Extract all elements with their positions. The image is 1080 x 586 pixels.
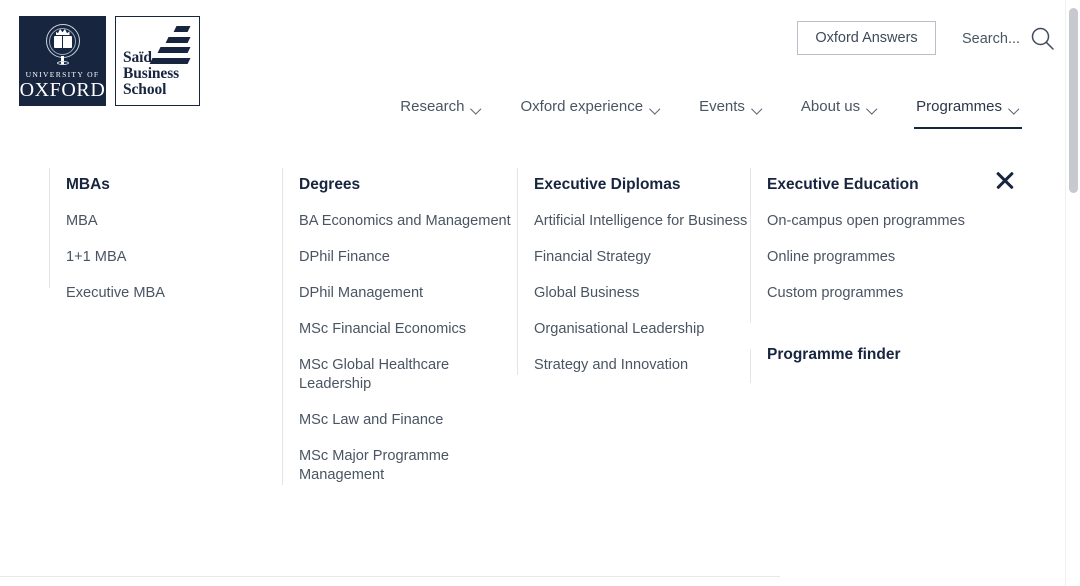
column-divider [750,349,751,383]
nav-item-label: Events [699,98,745,115]
nav-item-events[interactable]: Events [699,98,763,137]
menu-link-dphil-management[interactable]: DPhil Management [299,284,514,303]
search-label: Search... [962,31,1020,47]
nav-item-label: About us [801,98,860,115]
oxford-crest-icon [43,23,83,65]
menu-link-ba-economics-and-management[interactable]: BA Economics and Management [299,212,514,231]
mega-menu-column-executive-diplomas: Executive Diplomas Artificial Intelligen… [517,152,757,375]
scrollbar-thumb[interactable] [1069,8,1078,193]
nav-item-programmes[interactable]: Programmes [916,98,1020,137]
mega-menu-column-executive-education: Executive Education On-campus open progr… [750,152,1010,364]
menu-link-msc-financial-economics[interactable]: MSc Financial Economics [299,320,514,339]
oxford-university-line: UNIVERSITY OF [26,70,100,79]
chevron-down-icon [651,105,661,111]
menu-link-financial-strategy[interactable]: Financial Strategy [534,248,749,267]
mega-menu-column-degrees: Degrees BA Economics and Management DPhi… [282,152,522,485]
column-divider [517,168,518,375]
menu-link-organisational-leadership[interactable]: Organisational Leadership [534,320,749,339]
nav-item-label: Research [400,98,464,115]
search-trigger[interactable]: Search... [962,26,1055,51]
menu-link-msc-law-and-finance[interactable]: MSc Law and Finance [299,411,514,430]
nav-item-oxford-experience[interactable]: Oxford experience [520,98,661,137]
menu-link-executive-mba[interactable]: Executive MBA [66,284,281,303]
programme-finder-block: Programme finder [767,346,1010,364]
page-root: UNIVERSITY OF OXFORD Saïd Business Schoo… [0,0,1080,586]
column-heading: Executive Education [767,175,1010,195]
said-business-school-logo[interactable]: Saïd Business School [115,16,200,106]
sbs-line-1: Saïd [123,50,179,66]
column-divider [282,168,283,485]
menu-link-dphil-finance[interactable]: DPhil Finance [299,248,514,267]
university-of-oxford-logo[interactable]: UNIVERSITY OF OXFORD [19,16,106,106]
chevron-down-icon [753,105,763,111]
menu-link-mba[interactable]: MBA [66,212,281,231]
menu-link-programme-finder[interactable]: Programme finder [767,346,1010,364]
chevron-down-icon [472,105,482,111]
programmes-mega-menu: MBAs MBA 1+1 MBA Executive MBA Degrees B… [0,152,1072,562]
chevron-down-icon [868,105,878,111]
column-divider [750,168,751,323]
nav-item-about-us[interactable]: About us [801,98,878,137]
search-icon[interactable] [1030,26,1055,51]
chevron-down-icon [1010,105,1020,111]
column-heading: MBAs [66,175,289,195]
main-navigation: Research Oxford experience Events About … [0,98,1072,140]
menu-link-artificial-intelligence-for-business[interactable]: Artificial Intelligence for Business [534,212,749,231]
page-bottom-divider [0,576,780,577]
mega-menu-column-mbas: MBAs MBA 1+1 MBA Executive MBA [49,152,289,303]
column-heading: Executive Diplomas [534,175,757,195]
menu-link-strategy-and-innovation[interactable]: Strategy and Innovation [534,356,749,375]
sbs-line-2: Business [123,66,179,82]
menu-link-online-programmes[interactable]: Online programmes [767,248,982,267]
sbs-line-3: School [123,82,179,98]
menu-link-custom-programmes[interactable]: Custom programmes [767,284,982,303]
menu-link-msc-major-programme-management[interactable]: MSc Major Programme Management [299,447,514,485]
menu-link-msc-global-healthcare-leadership[interactable]: MSc Global Healthcare Leadership [299,356,514,394]
menu-link-on-campus-open-programmes[interactable]: On-campus open programmes [767,212,982,231]
column-divider [49,168,50,288]
logo-group[interactable]: UNIVERSITY OF OXFORD Saïd Business Schoo… [19,16,200,106]
menu-link-1plus1-mba[interactable]: 1+1 MBA [66,248,281,267]
oxford-answers-button[interactable]: Oxford Answers [797,21,936,55]
nav-item-label: Programmes [916,98,1002,115]
menu-link-global-business[interactable]: Global Business [534,284,749,303]
nav-item-label: Oxford experience [520,98,643,115]
column-heading: Degrees [299,175,522,195]
nav-item-research[interactable]: Research [400,98,482,137]
sbs-wordmark: Saïd Business School [123,50,179,98]
page-scrollbar[interactable] [1065,0,1080,586]
